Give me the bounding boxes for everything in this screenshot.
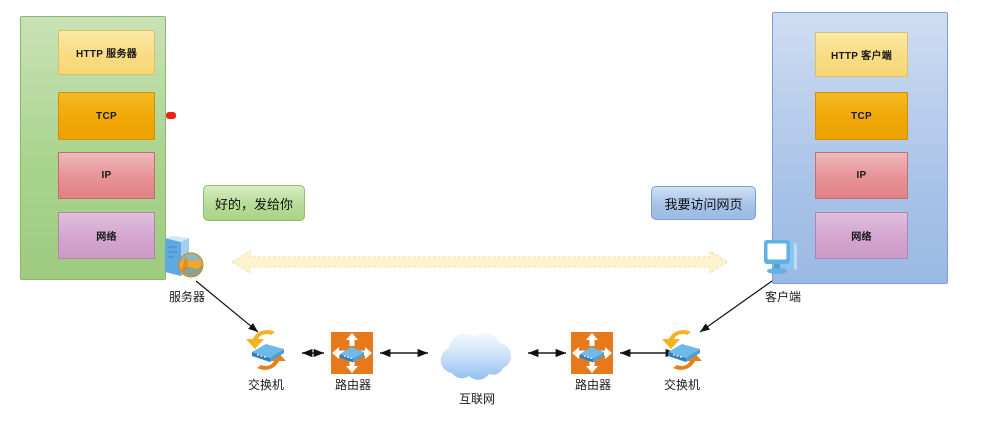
server-layer-ip: IP: [58, 152, 155, 199]
client-request-bubble: 我要访问网页: [651, 186, 756, 220]
server-node-label: 服务器: [152, 288, 222, 305]
client-monitor-icon: [759, 236, 803, 280]
client-layer-network: 网络: [815, 212, 908, 259]
router-right-icon: [570, 331, 614, 375]
diagram-canvas: HTTP 服务器 TCP IP 网络 HTTP 客户端 TCP IP 网络 好的…: [0, 0, 998, 427]
switch-right-label: 交换机: [647, 376, 717, 393]
client-layer-ip: IP: [815, 152, 908, 199]
client-node-label: 客户端: [748, 288, 818, 305]
server-reply-bubble: 好的，发给你: [203, 185, 305, 221]
router-left-icon: [330, 331, 374, 375]
internet-cloud-icon: [432, 327, 522, 385]
server-tower-icon: [161, 236, 205, 280]
client-layer-http: HTTP 客户端: [815, 32, 908, 77]
switch-right-icon: [654, 325, 710, 375]
logical-connection-double-arrow: [232, 248, 728, 276]
red-dot-marker: [166, 112, 176, 119]
server-layer-tcp: TCP: [58, 92, 155, 140]
router-left-label: 路由器: [318, 376, 388, 393]
server-layer-network: 网络: [58, 212, 155, 259]
switch-left-icon: [238, 325, 294, 375]
server-layer-http: HTTP 服务器: [58, 30, 155, 75]
switch-left-label: 交换机: [231, 376, 301, 393]
internet-label: 互联网: [442, 390, 512, 407]
router-right-label: 路由器: [558, 376, 628, 393]
client-layer-tcp: TCP: [815, 92, 908, 140]
